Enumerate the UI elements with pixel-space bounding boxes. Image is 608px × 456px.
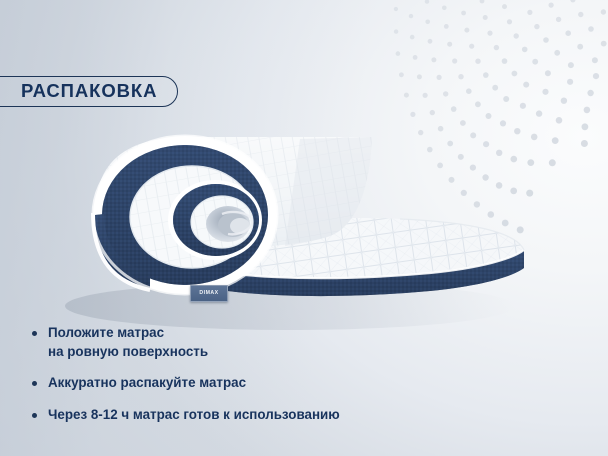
- list-item: Аккуратно распакуйте матрас: [32, 374, 452, 393]
- bullet-dot-icon: [32, 331, 37, 336]
- bullet-dot-icon: [32, 413, 37, 418]
- brand-tag-label: DIMAX: [199, 291, 218, 296]
- slide-canvas: РАСПАКОВКА: [0, 0, 608, 456]
- list-item-label: Через 8-12 ч матрас готов к использовани…: [48, 406, 340, 425]
- list-item: Положите матрас на ровную поверхность: [32, 324, 452, 361]
- instruction-list: Положите матрас на ровную поверхность Ак…: [32, 324, 452, 424]
- bullet-dot-icon: [32, 381, 37, 386]
- list-item-label: Аккуратно распакуйте матрас: [48, 374, 246, 393]
- section-badge: РАСПАКОВКА: [0, 76, 178, 107]
- list-item-label: Положите матрас на ровную поверхность: [48, 324, 208, 361]
- brand-tag: DIMAX: [190, 285, 228, 302]
- list-item: Через 8-12 ч матрас готов к использовани…: [32, 406, 452, 425]
- page-title: РАСПАКОВКА: [21, 82, 157, 101]
